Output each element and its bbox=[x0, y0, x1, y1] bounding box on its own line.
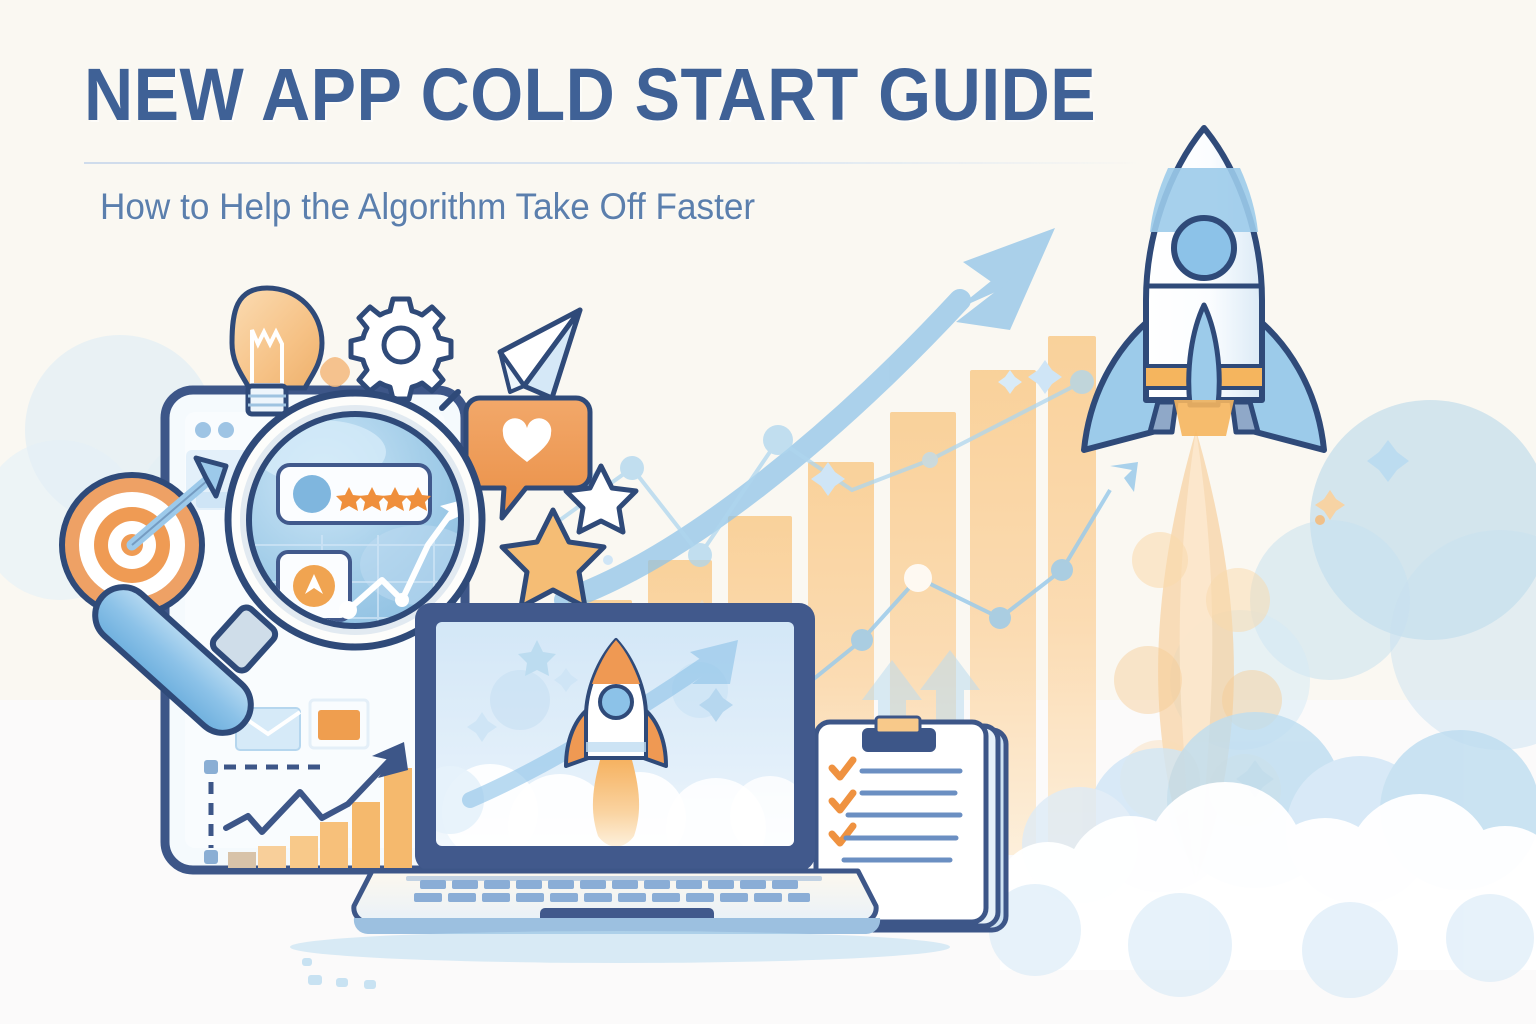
poster-canvas: NEW APP COLD START GUIDE How to Help the… bbox=[0, 0, 1536, 1024]
illustration-canvas bbox=[0, 0, 1536, 1024]
orange-block bbox=[318, 710, 360, 740]
page-title: NEW APP COLD START GUIDE bbox=[84, 58, 1096, 132]
avatar bbox=[293, 475, 331, 513]
rocket-porthole bbox=[1174, 218, 1234, 278]
title-divider bbox=[84, 162, 1144, 164]
gear-icon bbox=[351, 299, 451, 399]
rating-card bbox=[278, 465, 431, 523]
page-subtitle: How to Help the Algorithm Take Off Faste… bbox=[100, 186, 755, 228]
clip-label bbox=[876, 717, 920, 733]
